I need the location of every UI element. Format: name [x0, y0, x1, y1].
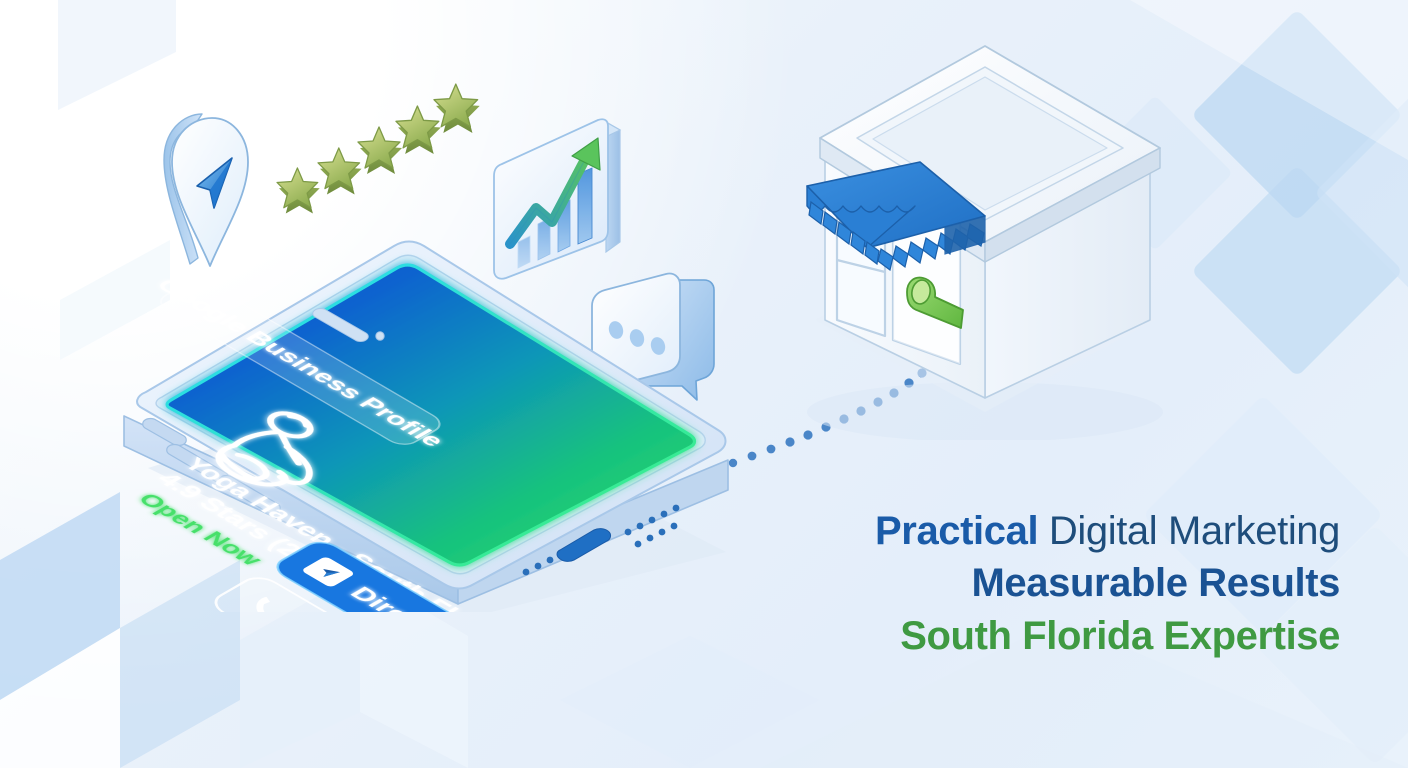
headline-line-1-regular: Digital Marketing — [1049, 509, 1340, 553]
headline-bold-word: Practical — [875, 509, 1038, 553]
headline-regular-words — [1038, 509, 1049, 553]
headline-block: Practical Digital Marketing Measurable R… — [640, 508, 1340, 659]
hero-illustration: Google Business Profile Yoga Haven - Sou… — [0, 0, 1408, 768]
five-stars-icon — [270, 80, 480, 215]
front-camera-dot — [376, 332, 384, 340]
iso-cube-top-left — [58, 0, 176, 110]
headline-line-3: South Florida Expertise — [640, 613, 1340, 659]
headline-line-2: Measurable Results — [640, 560, 1340, 606]
headline-line-1: Practical Digital Marketing — [640, 508, 1340, 554]
storefront-building — [795, 20, 1165, 440]
